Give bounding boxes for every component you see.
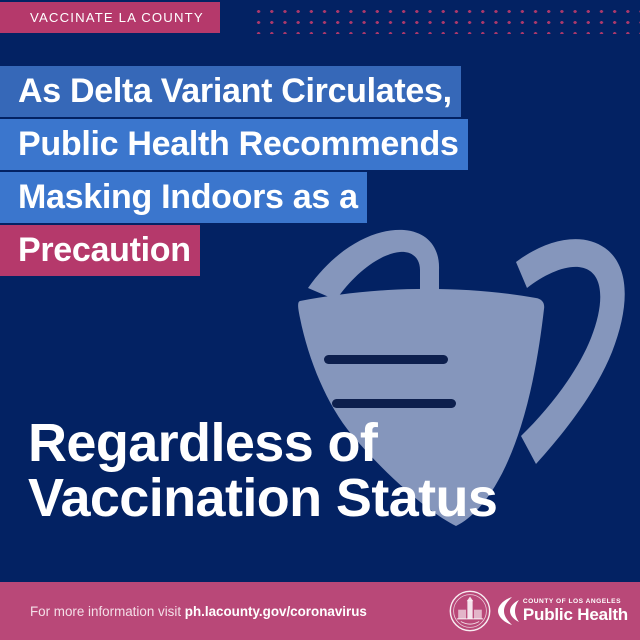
public-health-swoosh-icon <box>498 596 520 626</box>
headline-row-2: Public Health Recommends <box>0 119 640 172</box>
headline-row-1: As Delta Variant Circulates, <box>0 66 640 119</box>
footer-url[interactable]: ph.lacounty.gov/coronavirus <box>185 604 367 619</box>
dot-pattern-decoration <box>252 6 640 34</box>
headline-line-3: Masking Indoors as a <box>0 172 367 223</box>
mask-pleat-line-bottom <box>332 399 456 408</box>
footer-info-text: For more information visit ph.lacounty.g… <box>30 604 367 619</box>
headline-line-2: Public Health Recommends <box>0 119 468 170</box>
mask-pleat-line-top <box>324 355 448 364</box>
county-seal-icon <box>449 590 491 632</box>
headline: As Delta Variant Circulates, Public Heal… <box>0 66 640 278</box>
badge-label: VACCINATE LA COUNTY <box>30 10 204 25</box>
public-health-logo: COUNTY OF LOS ANGELES Public Health <box>449 588 628 634</box>
headline-row-3: Masking Indoors as a <box>0 172 640 225</box>
subheadline-line-1: Regardless of <box>28 416 628 471</box>
wordmark-department-line: Public Health <box>523 606 628 623</box>
headline-line-1: As Delta Variant Circulates, <box>0 66 461 117</box>
subheadline: Regardless of Vaccination Status <box>28 416 628 526</box>
footer-bar: For more information visit ph.lacounty.g… <box>0 582 640 640</box>
headline-line-4: Precaution <box>0 225 200 276</box>
wordmark-text-block: COUNTY OF LOS ANGELES Public Health <box>523 599 628 624</box>
wordmark-county-line: COUNTY OF LOS ANGELES <box>523 599 628 606</box>
vaccinate-la-county-badge: VACCINATE LA COUNTY <box>0 2 220 33</box>
public-health-wordmark: COUNTY OF LOS ANGELES Public Health <box>498 596 628 626</box>
subheadline-line-2: Vaccination Status <box>28 471 628 526</box>
footer-prefix: For more information visit <box>30 604 185 619</box>
poster-canvas: VACCINATE LA COUNTY As Delta Variant Cir… <box>0 0 640 640</box>
headline-row-4: Precaution <box>0 225 640 278</box>
